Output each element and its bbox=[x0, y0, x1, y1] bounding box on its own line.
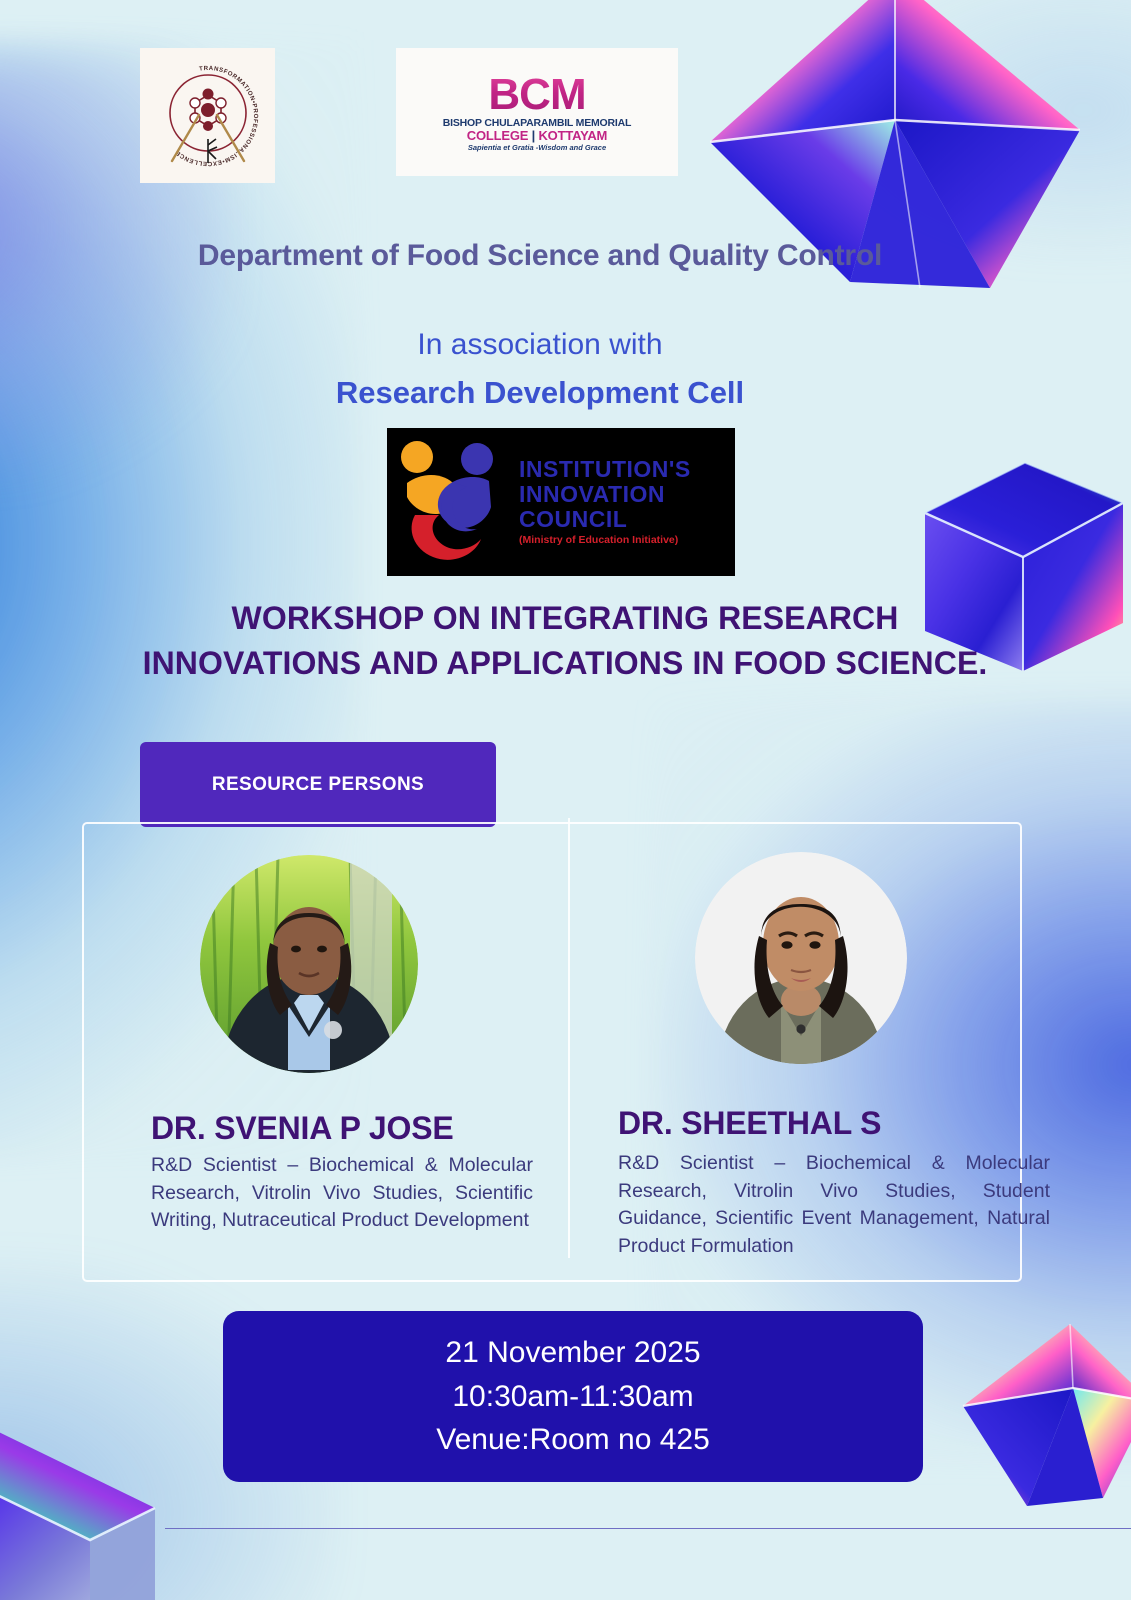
event-time: 10:30am-11:30am bbox=[452, 1375, 693, 1419]
workshop-title: WORKSHOP ON INTEGRATING RESEARCH INNOVAT… bbox=[120, 596, 1010, 687]
avatar bbox=[200, 855, 418, 1073]
speaker-description: R&D Scientist – Biochemical & Molecular … bbox=[618, 1150, 1050, 1261]
bcm-college-place: COLLEGE | KOTTAYAM bbox=[443, 129, 631, 142]
resource-persons-label: RESOURCE PERSONS bbox=[140, 774, 496, 796]
tpe-college-emblem: TRANSFORMATION•PROFESSIONALISM•EXCELLENC… bbox=[140, 48, 275, 183]
iic-emblem-icon bbox=[393, 437, 511, 567]
iic-line-3: COUNCIL bbox=[519, 507, 691, 532]
iic-line-1: INSTITUTION'S bbox=[519, 457, 691, 482]
bcm-college-logo: BCM BISHOP CHULAPARAMBIL MEMORIAL COLLEG… bbox=[396, 48, 678, 176]
bcm-wordmark: BCM bbox=[443, 73, 631, 117]
speaker-description: R&D Scientist – Biochemical & Molecular … bbox=[151, 1152, 533, 1235]
portrait-svenia-p-jose bbox=[200, 855, 418, 1073]
resource-persons-badge: RESOURCE PERSONS bbox=[140, 742, 496, 827]
background-glow-right-top bbox=[831, 0, 1131, 260]
speaker-name: DR. SHEETHAL S bbox=[618, 1105, 881, 1142]
bcm-tagline: Sapientia et Gratia -Wisdom and Grace bbox=[443, 144, 631, 152]
iic-line-2: INNOVATION bbox=[519, 482, 691, 507]
department-title: Department of Food Science and Quality C… bbox=[150, 234, 930, 277]
event-date: 21 November 2025 bbox=[445, 1331, 700, 1375]
event-details-box: 21 November 2025 10:30am-11:30am Venue:R… bbox=[223, 1311, 923, 1482]
bcm-separator: | bbox=[528, 128, 538, 143]
association-label: In association with bbox=[150, 325, 930, 364]
molecule-emblem-icon: TRANSFORMATION•PROFESSIONALISM•EXCELLENC… bbox=[147, 55, 269, 177]
event-venue: Venue:Room no 425 bbox=[436, 1418, 710, 1462]
iic-subtitle: (Ministry of Education Initiative) bbox=[519, 535, 691, 546]
poster-canvas: TRANSFORMATION•PROFESSIONALISM•EXCELLENC… bbox=[0, 0, 1131, 1600]
speakers-divider bbox=[568, 818, 570, 1258]
speaker-name: DR. SVENIA P JOSE bbox=[151, 1110, 453, 1147]
bcm-college-word: COLLEGE bbox=[467, 128, 528, 143]
research-development-cell-title: Research Development Cell bbox=[150, 373, 930, 413]
avatar bbox=[695, 852, 907, 1064]
bcm-place-word: KOTTAYAM bbox=[538, 128, 607, 143]
portrait-sheethal-s bbox=[695, 852, 907, 1064]
bcm-fullname: BISHOP CHULAPARAMBIL MEMORIAL bbox=[443, 118, 631, 129]
institutions-innovation-council-logo: INSTITUTION'S INNOVATION COUNCIL (Minist… bbox=[387, 428, 735, 576]
bottom-divider-rule bbox=[165, 1528, 1131, 1530]
